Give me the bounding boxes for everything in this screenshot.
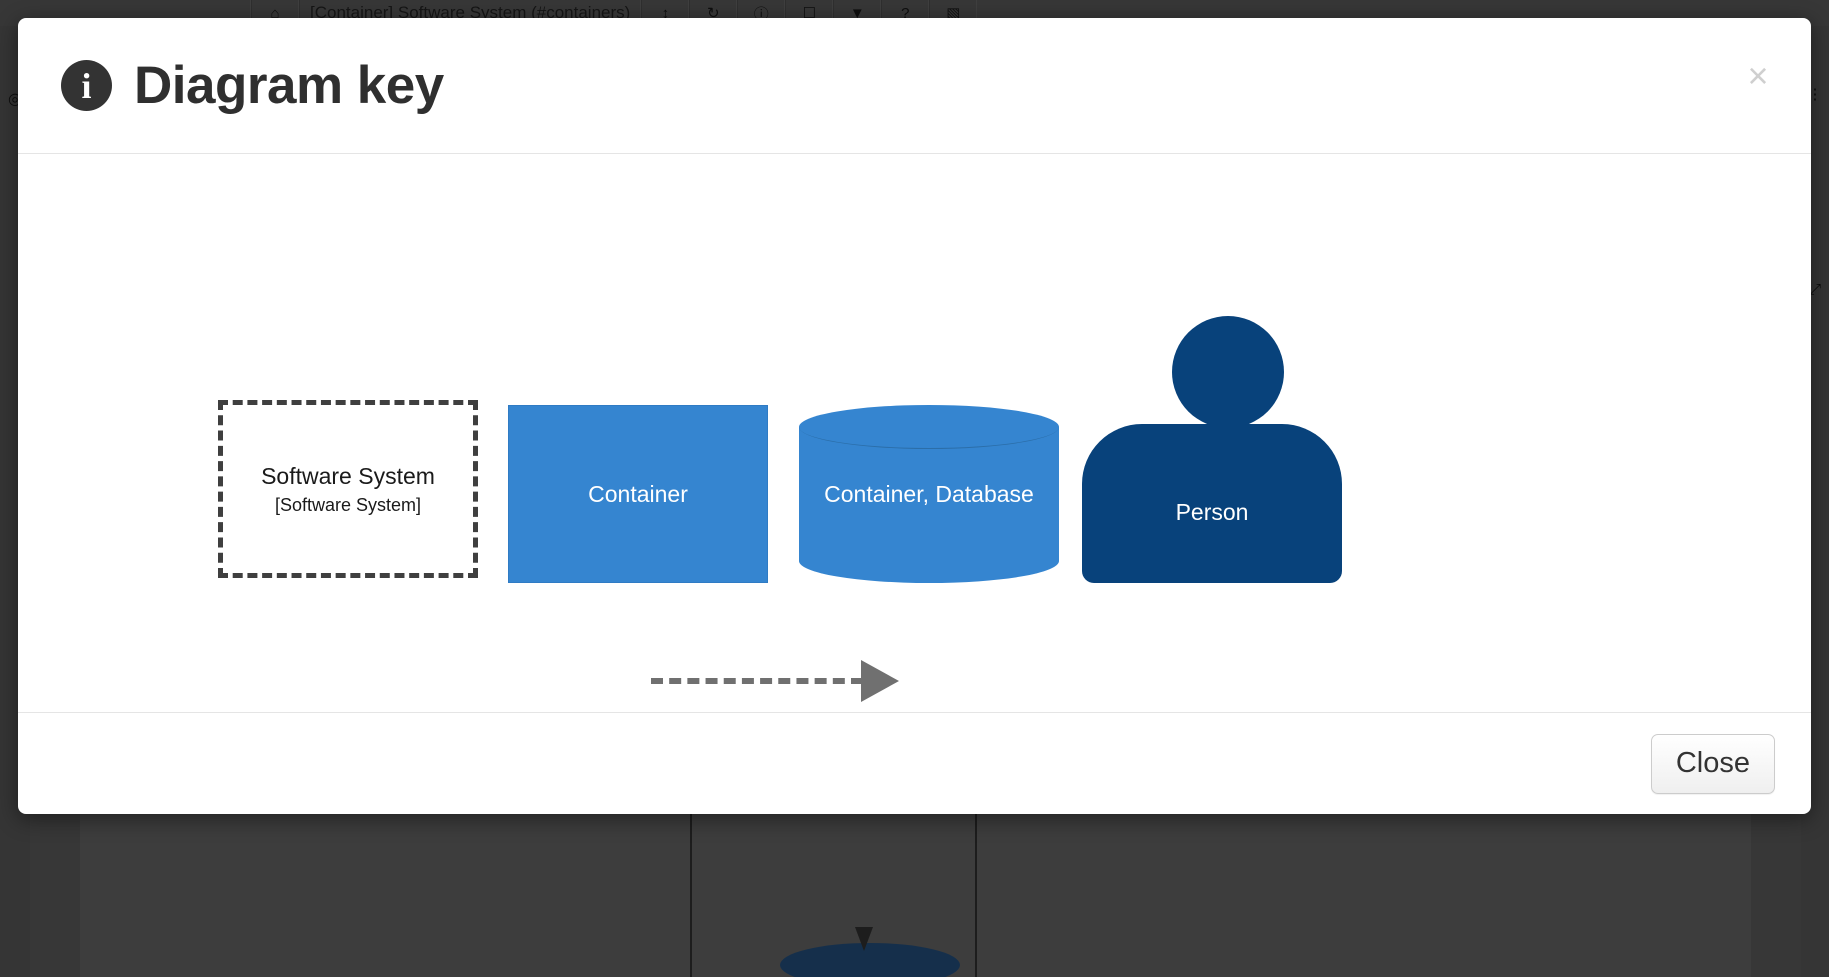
- key-shape-container: Container: [508, 405, 768, 583]
- page-title: Diagram key: [134, 59, 444, 112]
- software-system-name: Software System: [261, 462, 435, 491]
- close-icon[interactable]: ×: [1740, 58, 1776, 94]
- key-shape-software-system: Software System [Software System]: [218, 400, 478, 578]
- modal-footer: Close: [18, 712, 1811, 814]
- key-shape-relationship: Relationship: [633, 644, 923, 712]
- screen-root: ⌂ [Container] Software System (#containe…: [0, 0, 1829, 977]
- person-label: Person: [1082, 424, 1342, 583]
- diagram-key-modal: i Diagram key × Software System [Softwar…: [18, 18, 1811, 814]
- software-system-technology: [Software System]: [275, 495, 421, 516]
- container-label: Container: [588, 481, 688, 508]
- person-head-icon: [1172, 316, 1284, 428]
- relationship-dashed-line: [651, 678, 863, 684]
- info-circle-icon: i: [61, 60, 112, 111]
- modal-body: Software System [Software System] Contai…: [18, 154, 1811, 712]
- modal-header: i Diagram key ×: [18, 18, 1811, 154]
- key-shape-database: Container, Database: [799, 405, 1059, 583]
- database-label: Container, Database: [799, 405, 1059, 583]
- close-button[interactable]: Close: [1651, 734, 1775, 794]
- diagram-key-canvas: Software System [Software System] Contai…: [18, 154, 1811, 712]
- relationship-arrowhead-icon: [861, 660, 899, 702]
- key-shape-person: Person: [1082, 316, 1342, 583]
